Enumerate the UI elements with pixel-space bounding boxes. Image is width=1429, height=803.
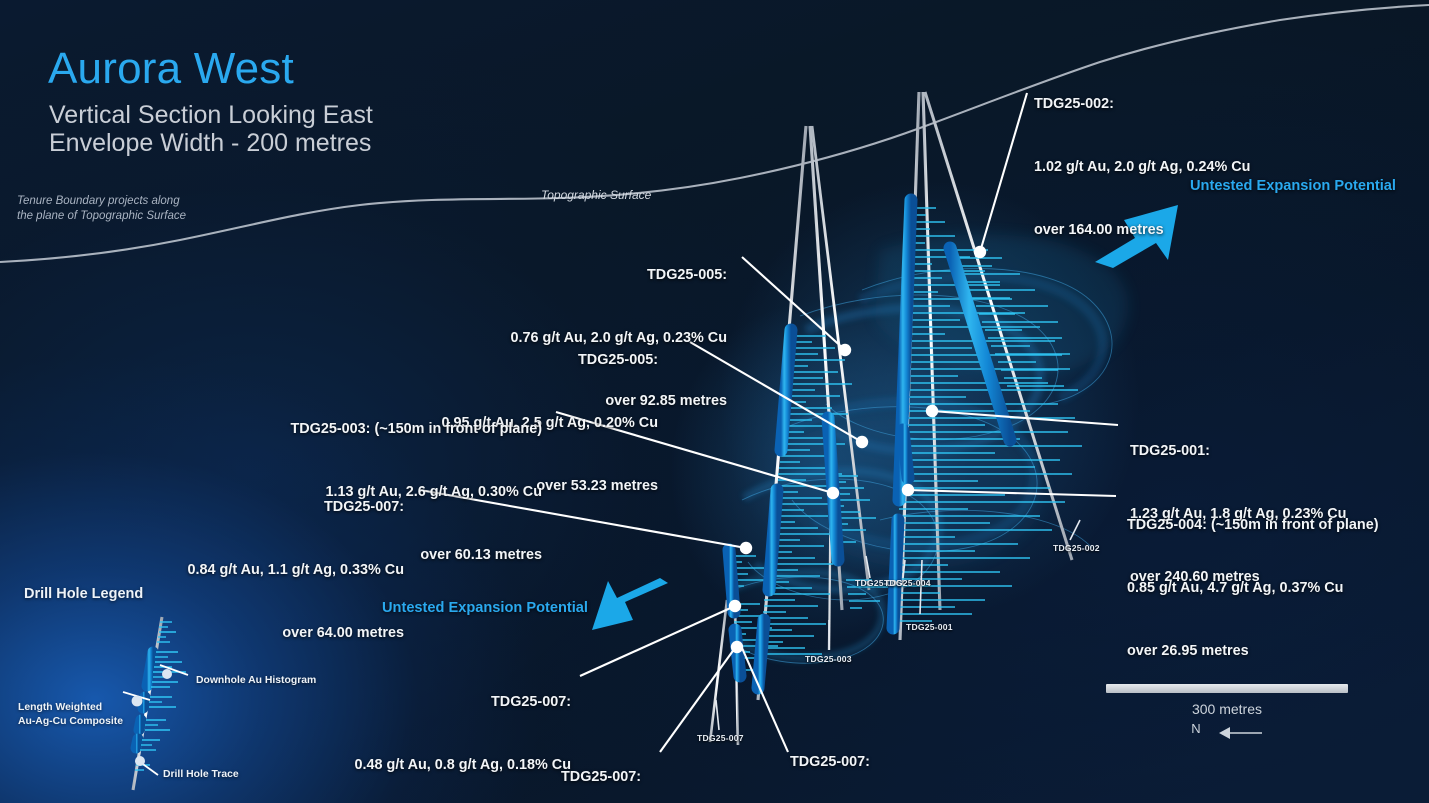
expansion-arrow-left [592,578,668,630]
holeid-label-tdg25-003: TDG25-003 [805,654,852,664]
vertical-section-figure: Aurora West Vertical Section Looking Eas… [0,0,1429,803]
callout-grades: 0.85 g/t Au, 4.7 g/t Ag, 0.37% Cu [1127,578,1379,599]
legend-label-composite: Length Weighted Au-Ag-Cu Composite [18,701,123,729]
callout-tdg25-002: TDG25-002: 1.02 g/t Au, 2.0 g/t Ag, 0.24… [1034,52,1250,283]
callout-interval: over 64.00 metres [0,623,404,644]
callout-grades: 1.02 g/t Au, 2.0 g/t Ag, 0.24% Cu [1034,157,1250,178]
legend-title: Drill Hole Legend [24,586,143,602]
callout-interval: over 164.00 metres [1034,220,1250,241]
callout-hole-id: TDG25-004: (~150m in front of plane) [1127,515,1379,536]
callout-hole-id: TDG25-007: [230,767,641,788]
callout-hole-id: TDG25-005: [240,350,658,371]
tenure-boundary-note: Tenure Boundary projects along the plane… [17,194,186,224]
callout-hole-id: TDG25-005: [300,265,727,286]
legend-label-downhole-au-histogram: Downhole Au Histogram [196,674,316,688]
holeid-label-tdg25-002: TDG25-002 [1053,543,1100,553]
callout-hole-id: TDG25-001: [1130,441,1346,462]
callout-interval: over 26.95 metres [1127,641,1379,662]
subtitle-line1: Vertical Section Looking East [49,100,373,131]
holeid-label-tdg25-004: TDG25-004 [884,578,931,588]
holeid-label-tdg25-007: TDG25-007 [697,733,744,743]
callout-tdg25-004: TDG25-004: (~150m in front of plane) 0.8… [1127,473,1379,704]
callout-hole-id: TDG25-003: (~150m in front of plane) [110,419,542,440]
north-label: N [1106,721,1286,736]
callout-hole-id: TDG25-007: [150,692,571,713]
callout-tdg25-007-c: TDG25-007: 0.87 g/t Au, 1.5 g/t Ag, 0.22… [230,725,641,803]
callout-tdg25-007-d: TDG25-007: 0.59 g/t Au, 1.8 g/t Ag, 0.25… [790,710,1006,803]
legend-label-drill-hole-trace: Drill Hole Trace [163,768,239,782]
callout-hole-id: TDG25-002: [1034,94,1250,115]
page-title: Aurora West [48,42,294,96]
scale-bar [1106,684,1348,693]
scale-bar-label: 300 metres [1106,701,1348,717]
callout-hole-id: TDG25-007: [0,497,404,518]
holeid-label-tdg25-001: TDG25-001 [906,622,953,632]
topographic-surface-label: Topographic Surface [541,188,651,202]
callout-hole-id: TDG25-007: [790,752,1006,773]
callout-grades: 0.84 g/t Au, 1.1 g/t Ag, 0.33% Cu [0,560,404,581]
subtitle-line2: Envelope Width - 200 metres [49,128,371,159]
